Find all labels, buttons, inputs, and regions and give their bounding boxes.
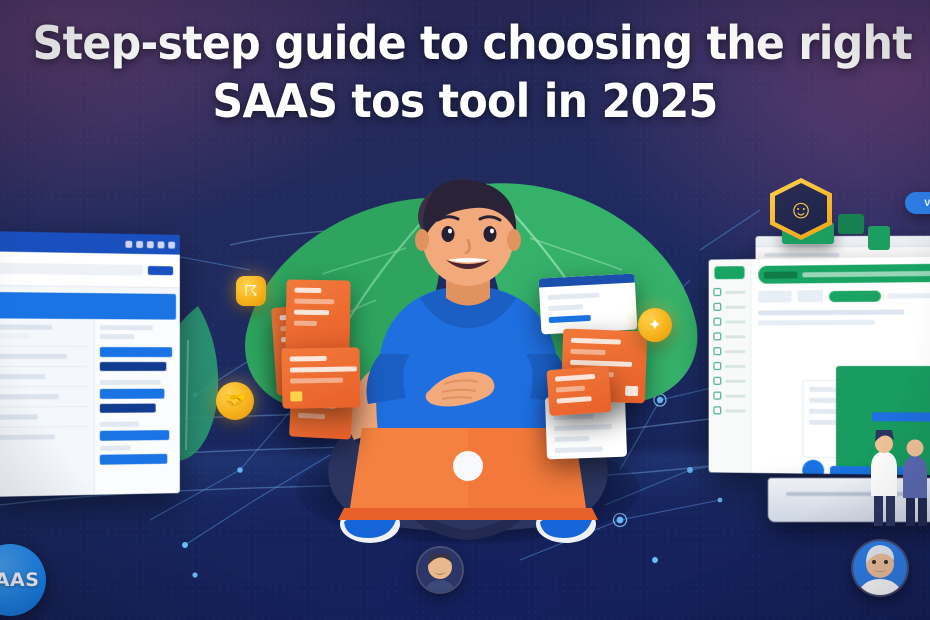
avatar-right-image	[853, 541, 907, 595]
sidebar-item-deals[interactable]	[713, 318, 745, 326]
search-input[interactable]	[0, 263, 143, 276]
tasks-icon	[713, 347, 721, 355]
right-window-header-bar	[758, 264, 930, 284]
green-mini-card-3	[868, 226, 890, 250]
view-pill-button[interactable]: View	[905, 192, 930, 214]
sidebar-item-files[interactable]	[713, 377, 745, 385]
menu-icon[interactable]	[168, 241, 175, 248]
banner-title: Step-step guide to choosing the right SA…	[0, 14, 930, 130]
avatar-center-image	[418, 548, 462, 592]
gear-icon	[713, 406, 721, 414]
sidebar-item-settings[interactable]	[713, 406, 745, 414]
sidebar-item-calendar[interactable]	[713, 362, 745, 370]
cart-icon[interactable]	[136, 240, 143, 247]
files-icon	[713, 377, 721, 385]
floating-window-card[interactable]	[539, 274, 638, 335]
right-window-sidebar[interactable]	[709, 259, 752, 473]
dashboard-icon	[713, 288, 721, 296]
left-window-toolbar	[0, 251, 180, 288]
share-nodes-icon: ☈	[244, 282, 257, 300]
title-line-1: Step-step guide to choosing the right	[33, 14, 898, 72]
saas-logo-badge[interactable]: SAAS	[0, 544, 46, 616]
orange-card-front[interactable]	[285, 279, 350, 352]
primary-action-button[interactable]	[148, 266, 173, 275]
rocket-badge[interactable]: ✦	[638, 308, 672, 342]
orange-card-wide[interactable]	[281, 347, 360, 408]
handshake-icon: 🤝	[224, 391, 245, 411]
chat-fab-button[interactable]	[802, 460, 824, 476]
rocket-icon: ✦	[648, 315, 661, 335]
green-mini-card-2	[838, 214, 864, 234]
floating-orange-card-small[interactable]	[546, 366, 611, 416]
avatar-right-bottom[interactable]	[853, 541, 907, 595]
sidebar-item-dashboard[interactable]	[713, 288, 745, 296]
left-dashboard-window[interactable]	[0, 231, 180, 497]
sidebar-item-tasks[interactable]	[713, 347, 745, 355]
status-badge	[829, 290, 881, 301]
sidebar-logo	[714, 266, 744, 279]
left-window-body	[0, 318, 180, 496]
deals-icon	[713, 318, 721, 326]
contacts-icon	[713, 303, 721, 311]
settings-icon[interactable]	[147, 241, 154, 248]
user-icon[interactable]	[158, 241, 165, 248]
hero-banner: Step-step guide to choosing the right SA…	[0, 0, 930, 620]
sidebar-item-contacts[interactable]	[713, 303, 745, 311]
right-panel-people-illustration	[862, 400, 930, 528]
calendar-icon	[713, 362, 721, 370]
view-pill-label: View	[924, 198, 930, 208]
left-window-banner	[0, 292, 176, 320]
saas-badge-label: SAAS	[0, 569, 39, 591]
left-window-chat-panel	[94, 319, 180, 494]
share-nodes-badge[interactable]: ☈	[236, 276, 266, 306]
right-window-stats	[758, 289, 930, 303]
sidebar-item-reports[interactable]	[713, 332, 745, 340]
billing-icon	[713, 392, 721, 400]
left-window-table	[0, 318, 94, 496]
handshake-badge[interactable]: 🤝	[216, 382, 254, 420]
avatar-center-bottom[interactable]	[418, 548, 462, 592]
reports-icon	[713, 332, 721, 340]
undo-icon[interactable]	[125, 240, 132, 247]
title-line-2: SAAS tos tool in 2025	[33, 72, 898, 130]
sidebar-item-billing[interactable]	[713, 392, 745, 400]
